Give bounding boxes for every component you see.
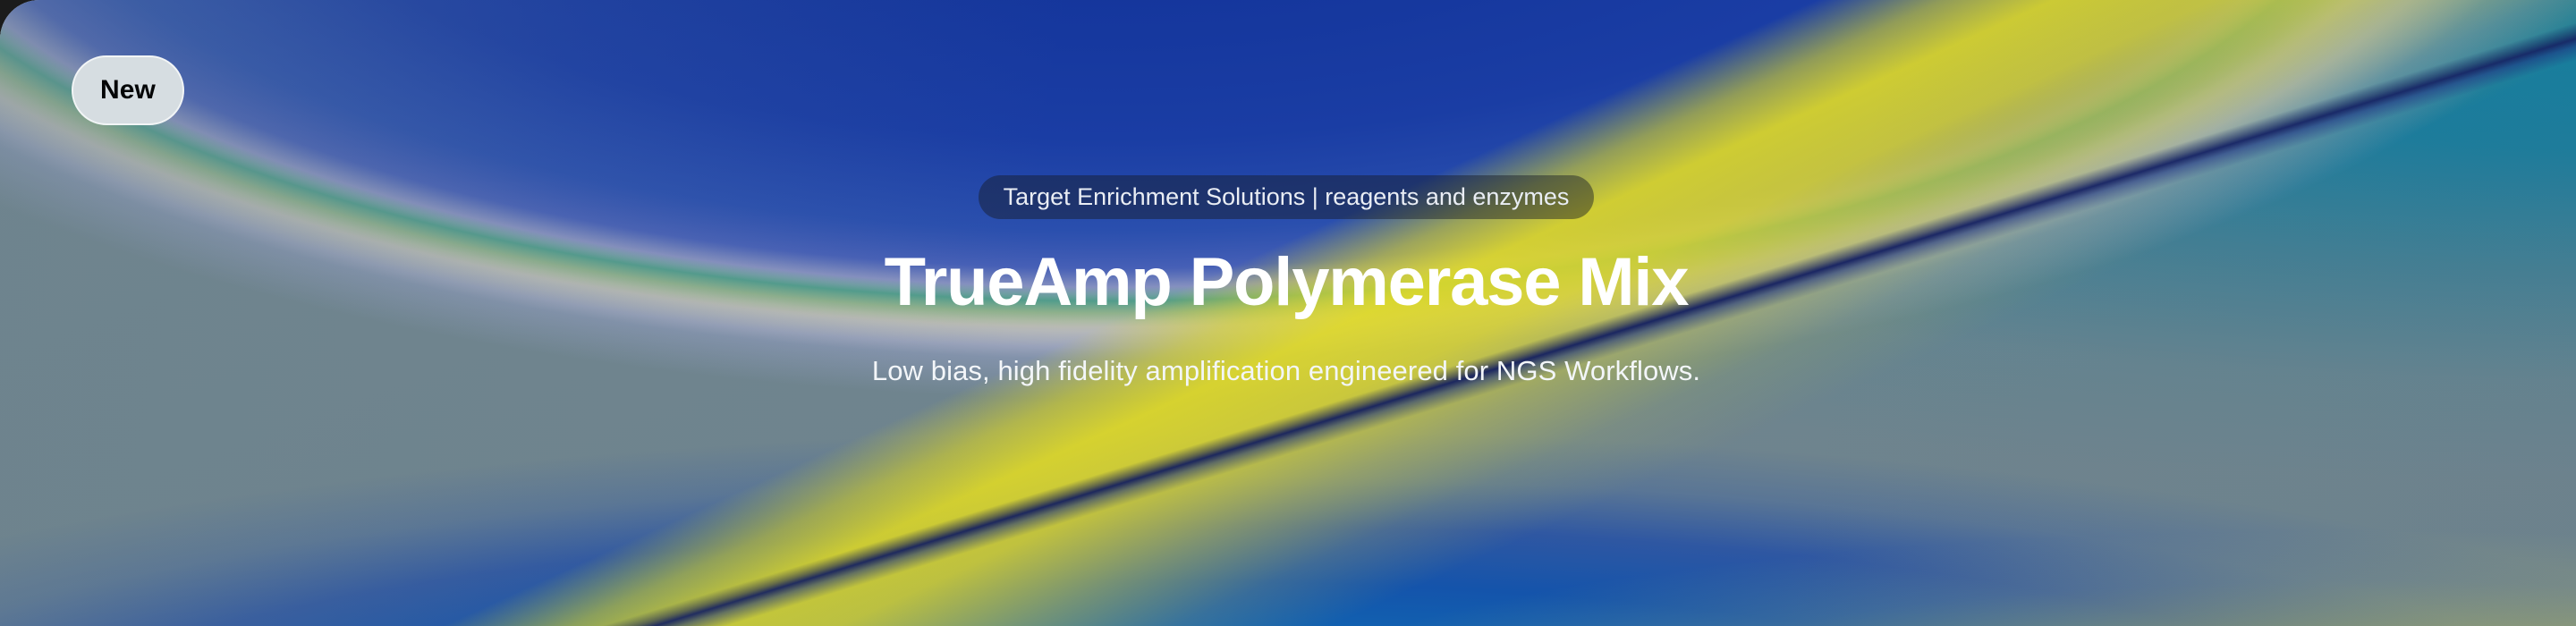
- new-badge[interactable]: New: [72, 55, 184, 125]
- hero-eyebrow-pill: Target Enrichment Solutions | reagents a…: [979, 175, 1595, 219]
- new-badge-label: New: [100, 77, 156, 104]
- hero-headline: TrueAmp Polymerase Mix: [885, 249, 1689, 317]
- product-hero-banner: New Target Enrichment Solutions | reagen…: [0, 0, 2576, 626]
- hero-content: Target Enrichment Solutions | reagents a…: [0, 0, 2574, 626]
- hero-subheadline: Low bias, high fidelity amplification en…: [872, 354, 1700, 389]
- hero-eyebrow-label: Target Enrichment Solutions | reagents a…: [1004, 185, 1570, 209]
